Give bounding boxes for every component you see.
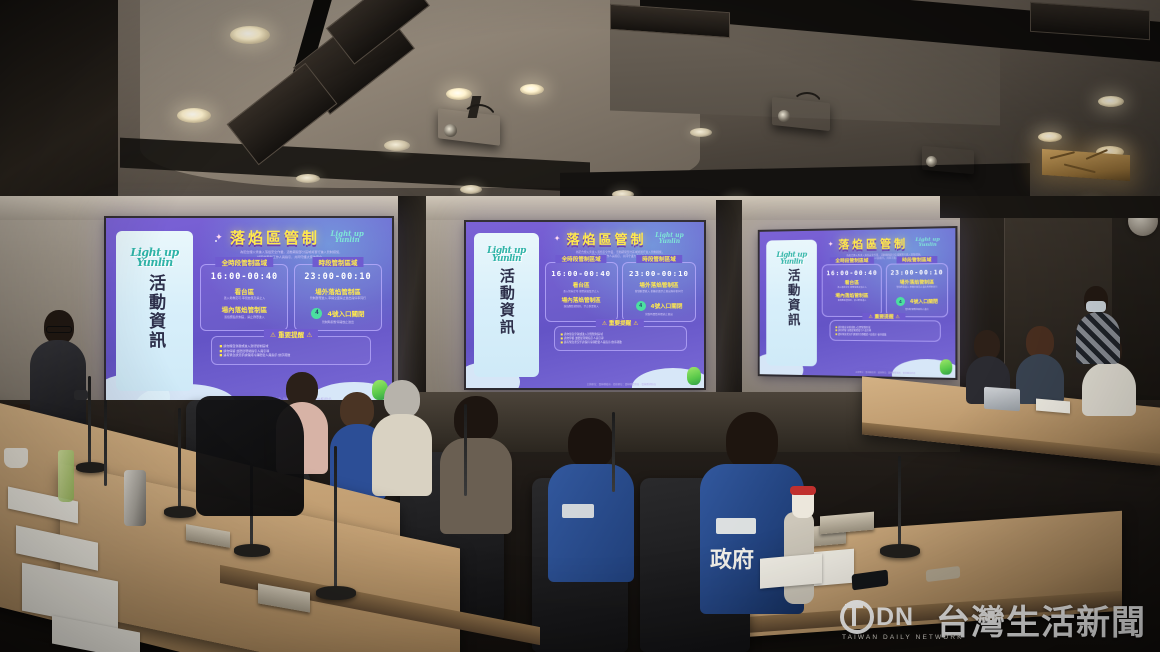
- zone-time-all-day: 16:00-00:40: [205, 272, 284, 282]
- left-projection-screen: Light up Yunlin 活動資訊 ✦ 落焰區管制 Light up Yu…: [106, 218, 392, 404]
- slide-header: ✦ 落焰區管制 Light up Yunlin: [200, 227, 382, 248]
- head: [454, 396, 498, 442]
- downlight-4: [296, 174, 320, 183]
- zone-box-all-day: 全時段管制區域 16:00-00:40 看台區 憑入場券定可‧車閉放風及禁止入 …: [822, 264, 882, 317]
- laptop: [984, 387, 1020, 412]
- notice-heading: ⚠ 重要提醒 ⚠: [596, 319, 644, 327]
- zone-item-outdoor: 場外落焰管制區: [299, 286, 378, 296]
- thermos-flask: [124, 470, 146, 526]
- torso: [1076, 312, 1120, 364]
- downlight-3: [384, 140, 410, 151]
- slide-left-panel: Light up Yunlin 活動資訊: [474, 233, 538, 378]
- torso: [1016, 354, 1064, 404]
- gate-number-badge: 4: [896, 297, 905, 306]
- right-projection-screen: Light up Yunlin 活動資訊 ✦ 落焰區管制 Light up Yu…: [760, 228, 956, 378]
- projector-lens-center: [778, 110, 790, 122]
- downlight-13: [1038, 132, 1062, 142]
- zone-item-indoor: 場內落焰管制區: [825, 292, 878, 299]
- vest-text: 政府: [710, 542, 754, 574]
- gooseneck-microphone: [612, 412, 615, 492]
- downlight-8: [460, 185, 482, 194]
- paper-sheet: [760, 553, 822, 588]
- torso-vest: [548, 464, 634, 582]
- head: [286, 372, 318, 406]
- zone-desc-outdoor: 管制群眾進入‧車輛全面禁止進出與停車同行: [626, 290, 691, 293]
- zone-time-timed: 23:00-00:10: [889, 269, 944, 277]
- downlight-6: [520, 84, 544, 95]
- zone-desc-indoor: 落焰應點管制區，禁止群眾進入: [205, 316, 284, 320]
- slide-vertical-title: 活動資訊: [785, 269, 799, 328]
- light-up-yunlin-logo: Light up Yunlin: [478, 247, 536, 264]
- microphone-base: [316, 586, 356, 600]
- zone-box-timed: 時段管制區域 23:00-00:10 場外落焰管制區 管制群眾進入‧車輛全面禁止…: [622, 262, 695, 322]
- warning-triangle-icon: ⚠: [602, 321, 607, 327]
- zone-time-timed: 23:00-00:10: [626, 269, 691, 278]
- zone-heading-all-day: 全時段管制區域: [830, 257, 875, 265]
- water-bottle: [58, 450, 74, 502]
- zone-item-grandstand: 看台區: [549, 281, 614, 289]
- gate-closure-chip: 4 4號入口關閉: [636, 301, 683, 311]
- gate-closure-label: 4號入口關閉: [651, 302, 683, 310]
- downlight-5: [446, 88, 472, 100]
- slide-left-panel: Light up Yunlin 活動資訊: [116, 231, 193, 391]
- gooseneck-microphone: [178, 408, 181, 514]
- tdn-watermark: DN TAIWAN DAILY NETWORK 台灣生活新聞: [840, 595, 1146, 644]
- cup-lid-icon: [790, 486, 816, 495]
- zone-time-all-day: 16:00-00:40: [549, 269, 614, 278]
- tdn-logo-icon: DN TAIWAN DAILY NETWORK: [840, 598, 926, 642]
- gate-closure-label: 4號入口關閉: [910, 298, 938, 305]
- tdn-logo-text: DN: [876, 603, 914, 632]
- warning-triangle-icon: ⚠: [868, 315, 872, 320]
- microphone-base: [234, 544, 270, 557]
- slide-right-panel: ✦ 落焰區管制 Light up Yunlin 為配合煙火秀進入落焰安全作業，活…: [817, 228, 955, 378]
- standing-attendee-masked: [1076, 286, 1120, 362]
- zone-item-indoor: 場內落焰管制區: [549, 296, 614, 304]
- torso: [440, 438, 512, 534]
- zone-box-timed: 時段管制區域 23:00-00:10 場外落焰管制區 管制群眾進入‧車輛全面禁止…: [294, 264, 382, 331]
- zone-heading-timed: 時段管制區域: [636, 255, 682, 263]
- downlight-12: [1098, 96, 1124, 107]
- head: [568, 418, 614, 468]
- gooseneck-microphone: [334, 446, 337, 594]
- gate-closure-desc: 管制時間暫停開放止進出: [626, 313, 691, 316]
- zone-heading-all-day: 全時段管制區域: [216, 257, 274, 267]
- zone-item-grandstand: 看台區: [825, 279, 878, 286]
- conference-room-scene: Light up Yunlin 活動資訊 ✦ 落焰區管制 Light up Yu…: [0, 0, 1160, 652]
- gooseneck-microphone: [898, 456, 901, 550]
- torso: [372, 414, 432, 496]
- gate-number-badge: 4: [636, 301, 646, 311]
- mascot-icon: [940, 359, 952, 375]
- slide-header: ✦ 落焰區管制 Light up Yunlin: [822, 234, 948, 252]
- gooseneck-microphone: [88, 376, 91, 470]
- notice-heading: ⚠ 重要提醒 ⚠: [863, 313, 906, 320]
- zone-heading-timed: 時段管制區域: [312, 257, 363, 267]
- wall-dark-band-right: [940, 196, 1160, 218]
- gate-closure-chip: 4 4號入口關閉: [896, 297, 938, 306]
- slide-right-panel: ✦ 落焰區管制 Light up Yunlin 為配合煙火秀進入落焰安全作業，活…: [539, 222, 704, 388]
- important-notice-box: ⚠ 重要提醒 ⚠ 請勿擅自穿越或進入封閉管制區域 請勿停留‧並聽從現場指引人員引…: [554, 326, 687, 350]
- coffee-cup: [4, 448, 28, 468]
- attendee-3-grey-hair: [372, 380, 432, 492]
- zone-desc-grandstand: 憑入場券定可‧車閉放風及禁止入: [205, 297, 284, 301]
- light-up-yunlin-logo: Light up Yunlin: [120, 248, 189, 268]
- zone-box-timed: 時段管制區域 23:00-00:10 場外落焰管制區 管制群眾進入‧車輛全面禁止…: [886, 263, 948, 317]
- gooseneck-microphone: [464, 404, 467, 496]
- warning-triangle-icon: ⚠: [270, 331, 276, 339]
- zone-item-outdoor: 場外落焰管制區: [626, 281, 691, 289]
- slide-content-left: Light up Yunlin 活動資訊 ✦ 落焰區管制 Light up Yu…: [106, 218, 392, 404]
- slide-left-panel: Light up Yunlin 活動資訊: [766, 240, 817, 367]
- zone-heading-timed: 時段管制區域: [896, 256, 938, 264]
- smartphone-in-hand: [74, 390, 88, 400]
- zone-time-all-day: 16:00-00:40: [825, 270, 878, 277]
- important-notice-box: ⚠ 重要提醒 ⚠ 請勿擅自穿越或進入封閉管制區域 請勿停留‧並聽從現場指引人員引…: [829, 320, 940, 342]
- zone-time-timed: 23:00-00:10: [299, 272, 378, 282]
- slide-corner-badge: Light up Yunlin: [652, 233, 686, 244]
- light-up-yunlin-logo: Light up Yunlin: [769, 251, 815, 265]
- microphone-base: [880, 544, 920, 558]
- firework-icon: ✦: [215, 232, 223, 243]
- zone-row: 全時段管制區域 16:00-00:40 看台區 憑入場券定可‧車閉放風及禁止入 …: [822, 263, 948, 317]
- slide-footer: 主辦單位：雲林縣政府 ‧ 協辦單位：雲林縣警察局 ‧ 雲林縣消防局: [817, 370, 955, 376]
- mascot-icon: [687, 367, 701, 385]
- slide-header: ✦ 落焰區管制 Light up Yunlin: [545, 229, 696, 248]
- head: [726, 412, 778, 470]
- downlight-1: [230, 26, 270, 44]
- tdn-t-icon: [852, 604, 856, 626]
- vest-logo-icon: [716, 518, 756, 534]
- vest-logo-icon: [562, 504, 594, 518]
- gooseneck-microphone: [104, 400, 107, 486]
- warning-triangle-icon-2: ⚠: [895, 315, 899, 320]
- slide-vertical-title: 活動資訊: [145, 274, 164, 350]
- notice-item: 遇有緊急狀況手請保持冷靜聽從人員指示‧依序疏散: [220, 353, 363, 358]
- gate-closure-chip: 4 4號入口關閉: [311, 308, 364, 319]
- camera-equipment-silhouette: [196, 396, 304, 516]
- zone-desc-outdoor: 管制群眾進入‧車輛全面禁止進出與停車同行: [299, 297, 378, 301]
- warning-triangle-icon-2: ⚠: [633, 321, 638, 327]
- slide-content-center: Light up Yunlin 活動資訊 ✦ 落焰區管制 Light up Yu…: [466, 222, 704, 388]
- downlight-2: [177, 108, 211, 123]
- warning-triangle-icon-2: ⚠: [306, 331, 312, 339]
- zone-item-grandstand: 看台區: [205, 286, 284, 296]
- slide-footer: 主辦單位：雲林縣政府 ‧ 協辦單位：雲林縣警察局 ‧ 雲林縣消防局: [539, 382, 704, 386]
- gate-closure-desc: 管制時間暫停開放止進出: [889, 309, 944, 312]
- slide-vertical-title: 活動資訊: [498, 268, 515, 336]
- attendee-4: [440, 396, 512, 528]
- zone-heading-all-day: 全時段管制區域: [556, 255, 607, 263]
- slide-corner-badge: Light up Yunlin: [913, 238, 942, 248]
- slide-title: 落焰區管制: [230, 227, 320, 248]
- notice-item: 遇有緊急狀況手請保持冷靜聽從人員指示‧依序疏散: [835, 333, 934, 337]
- zone-desc-grandstand: 憑入場券定可‧車閉放風及禁止入: [549, 290, 614, 293]
- gate-closure-desc: 管制時間暫停開放止進出: [299, 321, 378, 325]
- slide-title: 落焰區管制: [566, 229, 646, 248]
- tdn-tagline: TAIWAN DAILY NETWORK: [842, 634, 964, 641]
- microphone-base: [164, 506, 196, 518]
- gate-closure-label: 4號入口關閉: [327, 308, 364, 318]
- notice-item: 遇有緊急狀況手請保持冷靜聽從人員指示‧依序疏散: [561, 341, 680, 345]
- attendee-back-2: [1016, 326, 1064, 400]
- tdn-chinese-name: 台灣生活新聞: [936, 595, 1146, 644]
- important-notice-box: ⚠ 重要提醒 ⚠ 請勿擅自穿越或進入封閉管制區域 請勿停留‧並聽從現場指引人員引…: [211, 336, 371, 364]
- gate-number-badge: 4: [311, 308, 322, 319]
- zone-desc-indoor: 落焰應點管制區，禁止群眾進入: [825, 300, 878, 303]
- eyeglasses-icon: [46, 326, 72, 333]
- head: [340, 392, 374, 428]
- face-mask-icon: [1086, 301, 1106, 312]
- zone-desc-indoor: 落焰應點管制區，禁止群眾進入: [549, 305, 614, 308]
- zone-item-indoor: 場內落焰管制區: [205, 304, 284, 314]
- zone-desc-grandstand: 憑入場券定可‧車閉放風及禁止入: [825, 287, 878, 290]
- torso: [1082, 362, 1136, 416]
- firework-icon: ✦: [828, 240, 834, 248]
- notice-heading: ⚠ 重要提醒 ⚠: [264, 329, 318, 339]
- firework-icon: ✦: [554, 234, 561, 243]
- slide-content-right: Light up Yunlin 活動資訊 ✦ 落焰區管制 Light up Yu…: [760, 228, 956, 378]
- projector-lens-right: [926, 156, 937, 167]
- center-projection-screen: Light up Yunlin 活動資訊 ✦ 落焰區管制 Light up Yu…: [466, 222, 704, 388]
- zone-item-outdoor: 場外落焰管制區: [889, 278, 944, 285]
- slide-title: 落焰區管制: [838, 235, 908, 252]
- zone-box-all-day: 全時段管制區域 16:00-00:40 看台區 憑入場券定可‧車閉放風及禁止入 …: [200, 264, 288, 331]
- zone-box-all-day: 全時段管制區域 16:00-00:40 看台區 憑入場券定可‧車閉放風及禁止入 …: [545, 262, 618, 322]
- microphone-base: [76, 462, 106, 473]
- projector-lens-left: [444, 124, 457, 137]
- zone-row: 全時段管制區域 16:00-00:40 看台區 憑入場券定可‧車閉放風及禁止入 …: [545, 262, 696, 322]
- attendee-5-blue-vest: [548, 418, 634, 578]
- zone-row: 全時段管制區域 16:00-00:40 看台區 憑入場券定可‧車閉放風及禁止入 …: [200, 264, 382, 331]
- head: [384, 380, 420, 418]
- slide-corner-badge: Light up Yunlin: [327, 231, 367, 244]
- zone-desc-outdoor: 管制群眾進入‧車輛全面禁止進出與停車同行: [889, 287, 944, 290]
- downlight-7: [690, 128, 712, 137]
